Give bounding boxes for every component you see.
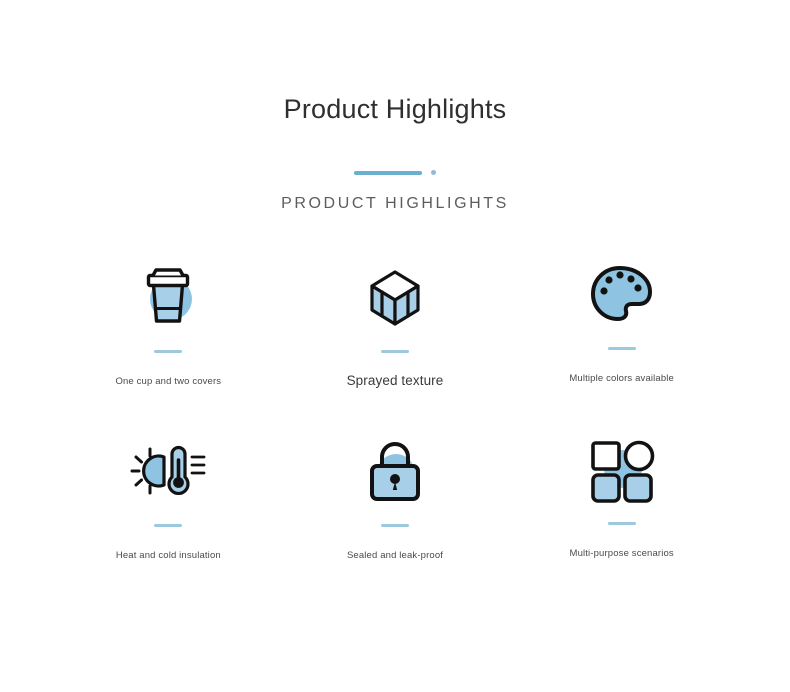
cube-box-icon: [356, 262, 434, 334]
feature-item: Sealed and leak-proof: [282, 436, 509, 614]
feature-item: Multi-purpose scenarios: [508, 434, 735, 612]
feature-underline: [608, 347, 636, 350]
feature-underline: [154, 524, 182, 527]
page-subtitle: PRODUCT HIGHLIGHTS: [0, 195, 790, 213]
coffee-cup-icon: [129, 262, 207, 334]
feature-caption: One cup and two covers: [115, 375, 221, 389]
feature-underline: [381, 350, 409, 353]
feature-caption: Heat and cold insulation: [116, 549, 221, 563]
feature-item: Sprayed texture: [282, 262, 509, 440]
feature-caption: Multi-purpose scenarios: [570, 547, 674, 561]
feature-item: Heat and cold insulation: [55, 436, 282, 614]
feature-caption: Sprayed texture: [347, 374, 444, 388]
divider-dot: [431, 170, 436, 175]
features-grid: One cup and two covers Sprayed texture: [55, 262, 735, 618]
feature-caption: Multiple colors available: [569, 372, 674, 386]
page-title: Product Highlights: [0, 92, 790, 126]
header: Product Highlights: [0, 92, 790, 126]
four-shapes-grid-icon: [583, 434, 661, 506]
padlock-icon: [356, 436, 434, 508]
paint-palette-icon: [583, 259, 661, 331]
subtitle-wrap: PRODUCT HIGHLIGHTS: [0, 195, 790, 213]
feature-underline: [608, 522, 636, 525]
feature-item: Multiple colors available: [508, 259, 735, 437]
feature-caption: Sealed and leak-proof: [347, 549, 443, 563]
feature-underline: [381, 524, 409, 527]
feature-underline: [154, 350, 182, 353]
divider-line: [354, 171, 422, 175]
product-highlights-page: Product Highlights PRODUCT HIGHLIGHTS On: [0, 0, 790, 692]
thermometer-sun-icon: [129, 436, 207, 508]
header-divider: [0, 170, 790, 175]
feature-item: One cup and two covers: [55, 262, 282, 440]
